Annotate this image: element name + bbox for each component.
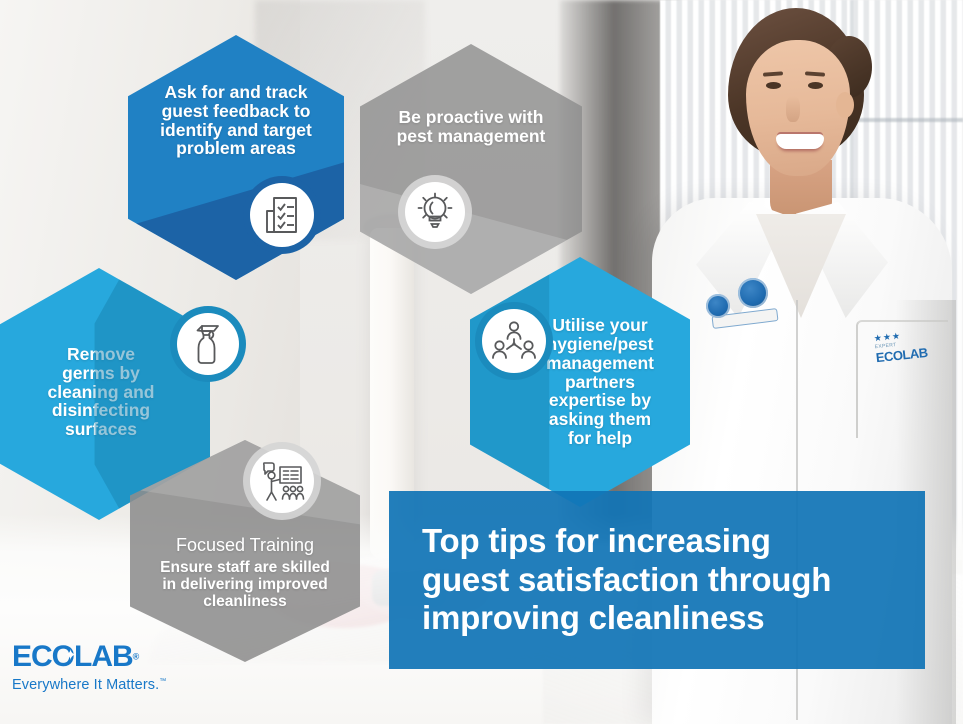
hex-line: Utilise your xyxy=(546,316,654,335)
hex-line: Ensure staff are skilled xyxy=(160,559,330,576)
hex-line: problem areas xyxy=(160,139,312,158)
hex-line: cleanliness xyxy=(160,593,330,610)
hex-tip-guest-feedback-text: Ask for and track guest feedback to iden… xyxy=(150,83,322,159)
hex-tip-partner-expertise-text: Utilise your hygiene/pest management par… xyxy=(536,316,664,448)
uniform-badge-small xyxy=(706,294,730,318)
hex-line: partners xyxy=(546,373,654,392)
medallion-disc xyxy=(177,313,239,375)
ecolab-wordmark-row: ECOLAB® ✦ xyxy=(12,640,172,674)
nose xyxy=(786,96,800,122)
hex-line: in delivering improved xyxy=(160,576,330,593)
spray-bottle-icon xyxy=(187,322,229,366)
people-network-icon xyxy=(491,320,537,362)
hex-line: expertise by xyxy=(546,391,654,410)
uniform-badge-large xyxy=(738,278,768,308)
hex-line: pest management xyxy=(397,127,546,146)
registered-trademark-symbol: ® xyxy=(133,652,140,662)
training-presentation-icon xyxy=(259,459,305,503)
hex-tip-focused-training-text: Focused Training Ensure staff are skille… xyxy=(150,536,340,610)
medallion-disc xyxy=(250,449,314,513)
title-line: guest satisfaction through xyxy=(422,561,831,600)
title-line: Top tips for increasing xyxy=(422,522,831,561)
medallion-disc xyxy=(405,182,465,242)
trademark-symbol: ™ xyxy=(159,678,166,685)
hex-line: Be proactive with xyxy=(397,108,546,127)
training-presentation-icon-medallion[interactable] xyxy=(243,442,321,520)
hex-tip-pest-management-text: Be proactive with pest management xyxy=(387,108,556,146)
medallion-disc xyxy=(250,183,314,247)
ecolab-wordmark: ECOLAB xyxy=(12,640,133,674)
eye-left xyxy=(766,82,781,89)
hex-line: Ask for and track xyxy=(160,83,312,102)
medallion-disc xyxy=(482,309,546,373)
training-heading: Focused Training xyxy=(160,536,330,555)
hex-line: asking them xyxy=(546,410,654,429)
uniform-pocket-logo: ★★★ EXPERT ECOLAB xyxy=(873,327,940,387)
lightbulb-icon xyxy=(414,190,456,234)
infographic-canvas: ★★★ EXPERT ECOLAB Ask for and track gues… xyxy=(0,0,963,724)
hex-line: guest feedback to xyxy=(160,102,312,121)
ecolab-tagline: Everywhere It Matters.™ xyxy=(12,677,172,693)
checklist-icon-medallion[interactable] xyxy=(243,176,321,254)
people-network-icon-medallion[interactable] xyxy=(475,302,553,380)
hex-line: management xyxy=(546,354,654,373)
page-title: Top tips for increasing guest satisfacti… xyxy=(389,522,853,638)
hex-line: identify and target xyxy=(160,121,312,140)
ear xyxy=(836,92,854,118)
hex-line: hygiene/pest xyxy=(546,335,654,354)
title-line: improving cleanliness xyxy=(422,599,831,638)
ecolab-logo[interactable]: ECOLAB® ✦ Everywhere It Matters.™ xyxy=(12,640,172,702)
eye-right xyxy=(808,82,823,89)
lightbulb-icon-medallion[interactable] xyxy=(398,175,472,249)
smiling-mouth xyxy=(776,134,824,149)
checklist-icon xyxy=(261,193,303,237)
ecolab-tagline-text: Everywhere It Matters. xyxy=(12,677,159,693)
hex-line: for help xyxy=(546,429,654,448)
title-banner: Top tips for increasing guest satisfacti… xyxy=(389,491,925,669)
spray-bottle-icon-medallion[interactable] xyxy=(170,306,246,382)
